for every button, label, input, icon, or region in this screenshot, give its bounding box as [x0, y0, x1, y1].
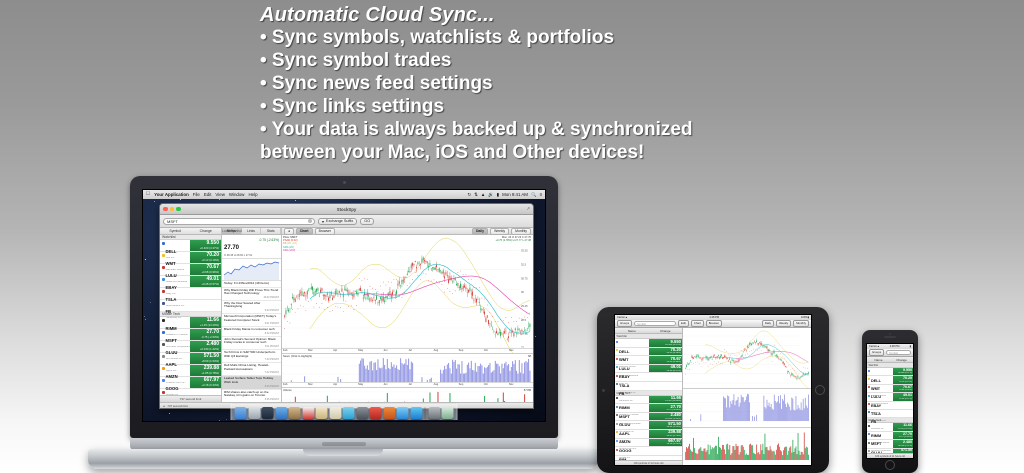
macbook-camera-icon	[343, 181, 346, 184]
bluetooth-icon[interactable]: ⇅	[474, 192, 478, 198]
battery-icon[interactable]: ▮	[497, 192, 499, 198]
headline-bullet-4: • Sync links settings	[260, 95, 1020, 118]
watchlist-row-quote: 9.550+0.400 (4.37%)	[649, 339, 682, 347]
news-item[interactable]: RIM shares also catch-up on the Nasdaq, …	[222, 390, 281, 403]
watchlist-row-text: AAPLApple Inc.	[166, 354, 192, 364]
news-histogram-chart[interactable]: News: (Click to Highlight) 68 FebMarAprM…	[282, 353, 533, 387]
news-headline: Tech Firms in S&P 500 Underperform With …	[224, 351, 279, 358]
symbol-color-icon	[162, 343, 165, 346]
watchlist-change: +0.28 (0.57%)	[899, 398, 912, 400]
watchlist-row-text: AMZNAmazon.com Inc.	[619, 430, 649, 437]
symbol-color-icon	[616, 397, 618, 399]
watchlist-row[interactable]: RIMMResearch In Motion11.66+1.45 (14.20%…	[160, 317, 221, 329]
photo-booth-icon[interactable]	[356, 407, 368, 419]
notification-center-icon[interactable]: ≡	[539, 192, 542, 197]
symbol-color-icon	[162, 266, 165, 269]
watchlist-row-text: MSFTMicrosoft Corporation	[871, 432, 893, 438]
headline-block: Automatic Cloud Sync... • Sync symbols, …	[260, 4, 1020, 164]
watchlist-change: +0.400 (4.37%)	[200, 246, 219, 250]
watchlist-row-info: GOOGGoogle Inc.	[615, 439, 649, 447]
menubar-clock[interactable]: Mon 9:41 AM	[502, 192, 528, 197]
iphone-watchlist-panel: Name Change WatchlistDELLDell Inc.9.550+…	[867, 357, 913, 458]
calendar-icon[interactable]	[289, 407, 301, 419]
news-timestamp: 9:01 PM EST	[224, 322, 279, 325]
menu-help[interactable]: Help	[248, 192, 257, 197]
symbol-color-icon	[868, 433, 870, 435]
tab-stats[interactable]: Stats	[261, 228, 281, 234]
watchlist-row-text: EBAYeBay Inc.	[871, 394, 893, 400]
watchlist-row-quote: 239.88+1.85 (0.78%)	[190, 365, 221, 376]
watchlist-row[interactable]: LULUlululemon athletica70.67+0.68 (0.96%…	[867, 385, 913, 393]
intraday-sparkline	[222, 259, 281, 281]
news-headline: Why the Dow Soared After Thanksgiving	[224, 302, 279, 309]
volume-chart-max: 57.8M	[524, 389, 531, 392]
star-dot	[154, 201, 155, 202]
symbol-color-icon	[162, 331, 165, 334]
watchlist-row[interactable]: GOOGGoogle Inc.667.97+2.18 (0.33%)	[615, 439, 682, 448]
watchlist-change: +1.45 (14.20%)	[898, 428, 912, 430]
symbol-search-value: MSFT	[167, 219, 178, 224]
watchlist-change: +8.69 (1.54%)	[667, 426, 682, 428]
watchlist-row-quote: 2.480+0.030 (1.22%)	[190, 341, 221, 352]
news-timestamp: 8:11 PM EST	[224, 345, 279, 348]
stocks-icon[interactable]	[410, 407, 422, 419]
svg-text:27.75: 27.75	[521, 332, 528, 336]
watchlist-row-text: WMTWal-Mart Stores	[166, 253, 192, 263]
watchlist-row[interactable]: WMTWal-Mart Stores70.20+0.13 (0.19%)	[615, 348, 682, 357]
star-dot	[539, 271, 540, 272]
watchlist-row[interactable]: AMZNAmazon.com Inc.239.88+1.85 (0.78%)	[160, 365, 221, 377]
tab-browser[interactable]: Browser	[315, 228, 335, 235]
watchlist-row-info: RIMMResearch In Motion	[615, 396, 649, 404]
news-item[interactable]: Why Black Friday Will Prove This Trend H…	[222, 288, 281, 301]
iphone-watchlist-rows: WatchlistDELLDell Inc.9.550+0.400 (4.37%…	[867, 363, 913, 453]
watchlist-row-info: AMZNAmazon.com Inc.	[615, 430, 649, 438]
ipad-wifi-icon: ▲	[625, 316, 628, 319]
watchlist-row-info: AAPLApple Inc.	[615, 421, 649, 429]
watchlist-row[interactable]: RIMMResearch In Motion11.66+1.45 (14.20%…	[615, 396, 682, 405]
chart-back-icon[interactable]: ◂	[284, 228, 294, 235]
news-list[interactable]: Today: Fri 23Nov2012 (48 items)Why Black…	[222, 281, 281, 402]
iphone-col-name[interactable]: Name	[867, 358, 890, 362]
watchlist-row-info: TSLATesla Motors Inc	[867, 402, 893, 409]
chart-toolbar: ◂ Chart Browser Daily Weekly Monthly	[282, 228, 533, 235]
tab-links[interactable]: Links	[242, 228, 262, 234]
window-body: Symbol Change WatchlistDELLDell Inc.9.55…	[160, 228, 533, 402]
ipad-chart-button[interactable]: Chart	[691, 320, 704, 327]
apple-logo-icon[interactable]: 	[146, 192, 150, 197]
exchange-suffix-label: Exchange Suffix	[326, 219, 353, 223]
news-item[interactable]: Black Friday Mania in consumer tech8:32 …	[222, 327, 281, 337]
iphone-battery-icon: ▮	[910, 345, 911, 348]
watchlist-row-info: RIMResearch In Motion Limited	[615, 447, 649, 455]
watchlist-row-quote: 32.13-0.38 (-1.17%)	[190, 288, 221, 299]
menu-view[interactable]: View	[215, 192, 224, 197]
volume-icon[interactable]: 🔊	[488, 192, 493, 198]
chart-quote-line2: +0.75 (2.78%) H 27.77 L 27.38	[496, 239, 531, 242]
watchlist-row[interactable]: TSLATesla Motors Inc32.13-0.38 (-1.17%)	[867, 402, 913, 410]
watchlist-row-quote: 571.50+8.69 (1.54%)	[649, 421, 682, 429]
symbol-color-icon	[616, 341, 618, 343]
watchlist-row-quote: 2.480+0.030 (1.22%)	[893, 440, 913, 447]
watchlist-row-info: AAPLApple Inc.	[160, 353, 190, 364]
go-button[interactable]: GO	[360, 218, 374, 225]
exchange-suffix-dropdown[interactable]: ▾ Exchange Suffix	[318, 218, 357, 225]
watchlist-change: +2.18 (0.33%)	[667, 443, 682, 445]
tab-chart[interactable]: Chart	[296, 228, 313, 235]
ipad-volume-chart[interactable]	[683, 428, 811, 466]
watchlist-row-text: LULUlululemon athletica	[166, 265, 192, 275]
watchlist-row-quote: 11.65-0.09 (-0.67%)	[649, 447, 682, 455]
watchlist-change: +0.030 (1.22%)	[200, 347, 219, 351]
news-timestamp: 6:20 PM EST	[224, 385, 279, 388]
watchlist-change: +0.400 (4.37%)	[665, 344, 681, 346]
watchlist-row-info: WMTWal-Mart Stores	[160, 252, 190, 263]
ipad-news-chart[interactable]	[683, 389, 811, 428]
clear-search-icon[interactable]	[308, 219, 312, 223]
watchlist-row-text: DELLDell Inc.	[619, 340, 649, 347]
symbol-color-icon	[162, 254, 165, 257]
watchlist-row-quote: 32.13-0.38 (-1.17%)	[893, 402, 913, 409]
ipad-period-weekly[interactable]: Weekly	[776, 320, 791, 327]
symbol-color-icon	[162, 379, 165, 382]
watchlist-row-text: AMZNAmazon.com Inc.	[166, 366, 192, 376]
macbook-latch-notch	[303, 449, 383, 456]
symbol-color-icon	[616, 431, 618, 433]
watchlist-row-info: TSLATesla Motors Inc	[615, 373, 649, 381]
watchlist-row-info: MSFTMicrosoft Corporation	[160, 329, 190, 340]
ipad-home-button[interactable]	[815, 385, 825, 395]
watchlist-change: -0.75 (-2.63%)	[899, 436, 912, 438]
iphone-groups-button[interactable]: Groups	[869, 349, 884, 356]
wifi-icon[interactable]: ▲	[481, 192, 485, 197]
star-dot	[145, 319, 146, 320]
watchlist-row[interactable]: AAPLApple Inc.571.50+8.69 (1.54%)	[160, 353, 221, 365]
watchlist-row-quote: 70.20+0.13 (0.19%)	[190, 252, 221, 263]
watchlist-row[interactable]: WMTWal-Mart Stores70.20+0.13 (0.19%)	[160, 252, 221, 264]
news-timestamp: 8:32 PM EST	[224, 332, 279, 335]
period-daily[interactable]: Daily	[472, 228, 488, 235]
watchlist-row[interactable]: FBFacebook Inc.24.00-0.32 (-1.32%)	[160, 300, 221, 312]
watchlist-row[interactable]: RIMResearch In Motion Limited11.65-0.09 …	[615, 447, 682, 456]
quote-ohl: O 28.45 H 28.60 L 27.61	[224, 254, 279, 257]
ipad-search-input[interactable]: Symbol	[634, 321, 676, 326]
watchlist-row-text: EBAYeBay Inc.	[619, 365, 649, 372]
statusbar-text: 737 second limit	[167, 404, 187, 408]
watchlist-row[interactable]: GOOGGoogle Inc.667.97+2.18 (0.33%)	[160, 377, 221, 389]
watchlist-row-text: RIMMResearch In Motion	[619, 396, 649, 403]
watchlist-row[interactable]: GLUUGlu Mobile Inc.2.480+0.030 (1.22%)	[867, 440, 913, 448]
ipad-period-monthly[interactable]: Monthly	[793, 320, 809, 327]
watchlist-change: -0.75 (-2.63%)	[201, 335, 219, 339]
news-timestamp: 7:40 PM EST	[224, 358, 279, 361]
headline-title: Automatic Cloud Sync...	[260, 4, 1020, 26]
symbol-color-icon	[868, 378, 870, 380]
statusbar-back-icon[interactable]: ◂	[163, 404, 164, 408]
symbol-color-icon	[868, 403, 870, 405]
watchlist-row[interactable]: LULUlululemon athletica70.67+0.68 (0.96%…	[160, 264, 221, 276]
trash-icon[interactable]	[442, 407, 454, 419]
star-dot	[219, 199, 220, 200]
watchlist-row-text: FBFacebook Inc.	[871, 410, 893, 416]
quote-price: 27.70	[224, 245, 239, 251]
svg-text:29.25: 29.25	[521, 304, 528, 308]
news-headline: Dell Mulls China Listing, Hewlett-Packar…	[224, 364, 279, 371]
news-item[interactable]: Microsoft Corporation (MSFT) Today's Fea…	[222, 314, 281, 327]
watchlist-row-info: EBAYeBay Inc.	[160, 276, 190, 287]
reminders-icon[interactable]	[316, 407, 328, 419]
watchlist-row-quote: 9.550+0.400 (4.37%)	[893, 368, 913, 375]
ipad-price-chart[interactable]	[683, 328, 811, 389]
news-item[interactable]: Leaked Surface Tablet Tops Holiday Wish …	[222, 376, 281, 389]
symbol-color-icon	[616, 414, 618, 416]
symbol-color-icon	[162, 290, 165, 293]
watchlist-change: +0.400 (4.37%)	[898, 372, 912, 374]
notes-icon[interactable]	[302, 407, 314, 419]
ipad-toolbar: Groups Symbol Edit Chart Browser Daily W…	[615, 320, 811, 328]
period-monthly[interactable]: Monthly	[511, 228, 531, 235]
mac-dock[interactable]	[231, 403, 458, 420]
window-titlebar[interactable]: StockSpy ↗	[160, 204, 533, 215]
watchlist-row-info: RIMMResearch In Motion	[867, 423, 893, 430]
watchlist-change: +1.85 (0.78%)	[201, 371, 219, 375]
star-dot	[169, 413, 170, 414]
spotlight-icon[interactable]: 🔍	[531, 192, 536, 198]
watchlist-row-info: WMTWal-Mart Stores	[867, 376, 893, 383]
news-chart-label: News: (Click to Highlight)	[283, 355, 312, 358]
watchlist-row-quote: 239.88+1.85 (0.78%)	[649, 430, 682, 438]
itunes-icon[interactable]	[370, 407, 382, 419]
symbol-color-icon	[162, 391, 165, 394]
watchlist-change: -0.38 (-1.17%)	[666, 378, 681, 380]
watchlist-col-symbol[interactable]: Symbol	[160, 229, 191, 233]
symbol-color-icon	[616, 449, 618, 451]
mail-icon[interactable]	[262, 407, 274, 419]
watchlist-row[interactable]: EBAYeBay Inc.49.01+0.28 (0.57%)	[160, 276, 221, 288]
watchlist-row-info: DELLDell Inc.	[867, 368, 893, 375]
watchlist-rows: WatchlistDELLDell Inc.9.550+0.400 (4.37%…	[160, 235, 221, 395]
symbol-color-icon	[616, 358, 618, 360]
ipad-battery-icon: ▮	[808, 316, 809, 319]
watchlist-row-info: GOOGGoogle Inc.	[160, 377, 190, 388]
news-timestamp: 9:44 PM EST	[224, 309, 279, 312]
iphone-body-content: Name Change WatchlistDELLDell Inc.9.550+…	[867, 357, 913, 458]
watchlist-col-change[interactable]: Change	[191, 229, 222, 233]
news-headline: Leaked Surface Tablet Tops Holiday Wish …	[224, 377, 279, 384]
price-chart-quote: Mon, 23 O 27.23 C 27.70 +0.75 (2.78%) H …	[496, 236, 531, 242]
symbol-color-icon	[868, 425, 870, 427]
watchlist-row-text: RIMResearch In Motion Limited	[619, 448, 649, 455]
watchlist-row-quote: 70.20+0.13 (0.19%)	[649, 348, 682, 356]
time-machine-icon[interactable]: ↻	[467, 192, 471, 198]
symbol-color-icon	[868, 450, 870, 452]
contacts-icon[interactable]	[275, 407, 287, 419]
headline-bullet-5: • Your data is always backed up & synchr…	[260, 118, 1020, 141]
ipad-col-change[interactable]: Change	[649, 329, 683, 333]
watchlist-row[interactable]: MSFTMicrosoft Corporation27.70-0.75 (-2.…	[867, 432, 913, 440]
ipad-col-name[interactable]: Name	[615, 329, 649, 333]
iphone-clock: 4:48 PM	[890, 345, 900, 348]
star-dot	[226, 419, 227, 420]
watchlist-row[interactable]: FBFacebook Inc.24.00-0.32 (-1.32%)	[615, 382, 682, 391]
watchlist-row[interactable]: GLUUGlu Mobile Inc.2.480+0.030 (1.22%)	[160, 341, 221, 353]
symbol-color-icon	[162, 242, 165, 245]
svg-text:33.25: 33.25	[521, 249, 528, 253]
watchlist-change: +1.45 (14.20%)	[665, 400, 681, 402]
volume-chart-label: Volume	[283, 389, 292, 392]
finder-icon[interactable]	[235, 407, 247, 419]
chevron-down-icon: ▾	[322, 219, 324, 224]
headline-bullet-3: • Sync news feed settings	[260, 72, 1020, 95]
watchlist-change: -0.32 (-1.32%)	[201, 306, 219, 310]
symbol-color-icon	[616, 366, 618, 368]
watchlist-change: +0.13 (0.19%)	[201, 258, 219, 262]
period-weekly[interactable]: Weekly	[490, 228, 509, 235]
news-timestamp: 7:02 PM EST	[224, 371, 279, 374]
watchlist-row[interactable]: DELLDell Inc.9.550+0.400 (4.37%)	[160, 240, 221, 252]
price-chart-legend: Price: MSFT PSAR (0.02) BB (20, 2.0) SMA…	[283, 236, 298, 252]
watchlist-row[interactable]: TSLATesla Motors Inc32.13-0.38 (-1.17%)	[615, 373, 682, 382]
watchlist-row[interactable]: TSLATesla Motors Inc32.13-0.38 (-1.17%)	[160, 288, 221, 300]
news-item[interactable]: Why the Dow Soared After Thanksgiving9:4…	[222, 301, 281, 314]
watchlist-row-quote: 70.20+0.13 (0.19%)	[893, 376, 913, 383]
watchlist-row-info: EBAYeBay Inc.	[867, 393, 893, 400]
news-headline: Today: Fri 23Nov2012 (48 items)	[224, 282, 279, 286]
watchlist-row-text: TSLATesla Motors Inc	[871, 402, 893, 408]
watchlist-change: -0.38 (-1.17%)	[899, 406, 912, 408]
symbol-color-icon	[868, 411, 870, 413]
watchlist-row[interactable]: DELLDell Inc.9.550+0.400 (4.37%)	[867, 368, 913, 376]
quote-change: -0.75 (-2.63%)	[259, 238, 279, 242]
iphone-carrier: Carrier	[869, 345, 877, 348]
menubar-app-name[interactable]: Your Application	[154, 192, 189, 197]
system-preferences-icon[interactable]	[397, 407, 409, 419]
watchlist-row-text: FBFacebook Inc.	[166, 301, 192, 311]
iphone-home-button[interactable]	[885, 460, 895, 470]
symbol-color-icon	[162, 302, 165, 305]
svg-text:32.5: 32.5	[521, 262, 527, 266]
watchlist-row-info: GLUUGlu Mobile Inc.	[615, 413, 649, 421]
watchlist-change: +1.85 (0.78%)	[667, 435, 682, 437]
watchlist-row-text: MSFTMicrosoft Corporation	[166, 330, 192, 340]
watchlist-row-text: GLUUGlu Mobile Inc.	[166, 342, 192, 352]
watchlist-row-quote: 49.01+0.28 (0.57%)	[190, 276, 221, 287]
star-dot	[150, 302, 151, 303]
downloads-icon[interactable]	[428, 407, 440, 419]
quote-summary: -0.75 (-2.63%) 27.70 O 28.45 H 28.60 L 2…	[222, 235, 281, 259]
menubar-status-area: ↻ ⇅ ▲ 🔊 ▮ Mon 9:41 AM 🔍 ≡	[467, 192, 542, 198]
menu-edit[interactable]: Edit	[204, 192, 212, 197]
watchlist-change: -0.38 (-1.17%)	[201, 294, 219, 298]
ipad-period-daily[interactable]: Daily	[762, 320, 774, 327]
iphone-speaker-icon	[884, 336, 896, 338]
iphone-camera-icon	[889, 333, 891, 335]
fullscreen-icon[interactable]: ↗	[526, 206, 530, 212]
watchlist-change: +0.28 (0.57%)	[201, 282, 219, 286]
ipad-edit-button[interactable]: Edit	[678, 320, 689, 327]
watchlist-row[interactable]: WMTWal-Mart Stores70.20+0.13 (0.19%)	[867, 376, 913, 384]
watchlist-row-info: EBAYeBay Inc.	[615, 365, 649, 373]
news-headline: John Dvorak's Second Opinion: Black Frid…	[224, 338, 279, 345]
watchlist-change: -0.75 (-2.63%)	[666, 409, 681, 411]
watchlist-row[interactable]: MSFTMicrosoft Corporation27.70-0.75 (-2.…	[160, 329, 221, 341]
watchlist-row[interactable]: FBFacebook Inc.24.00-0.32 (-1.32%)	[867, 410, 913, 418]
watchlist-row-quote: 27.70-0.75 (-2.63%)	[893, 432, 913, 439]
watchlist-row-info: LULUlululemon athletica	[160, 264, 190, 275]
watchlist-row[interactable]: RIMMResearch In Motion11.66+1.45 (14.20%…	[867, 423, 913, 431]
news-headline: Why Black Friday Will Prove This Trend H…	[224, 289, 279, 296]
symbol-color-icon	[616, 440, 618, 442]
watchlist-change: +0.68 (0.96%)	[899, 389, 912, 391]
iphone-footer: 100 symbols of 11 hours old	[867, 453, 913, 458]
symbol-search-input[interactable]: MSFT	[163, 218, 315, 225]
watchlist-row-text: WMTWal-Mart Stores	[619, 348, 649, 355]
watchlist-row-text: GOOGGoogle Inc.	[619, 439, 649, 446]
symbol-color-icon	[868, 370, 870, 372]
watchlist-row-text: RIMMResearch In Motion	[166, 318, 192, 328]
app-store-icon[interactable]	[383, 407, 395, 419]
watchlist-row-quote: 32.13-0.38 (-1.17%)	[649, 373, 682, 381]
chart-panel: ◂ Chart Browser Daily Weekly Monthly Pri…	[282, 228, 533, 402]
iphone-search-input[interactable]: Symbol	[886, 350, 911, 355]
news-timestamp: 10:02 PM EST	[224, 296, 279, 299]
legend-sma200: SMA (200)	[283, 249, 298, 252]
watchlist-row-info: AMZNAmazon.com Inc.	[160, 365, 190, 376]
menu-file[interactable]: File	[193, 192, 200, 197]
ipad-groups-button[interactable]: Groups	[617, 320, 632, 327]
watchlist-row-quote: 11.66+1.45 (14.20%)	[190, 317, 221, 328]
price-chart[interactable]: Price: MSFT PSAR (0.02) BB (20, 2.0) SMA…	[282, 235, 533, 353]
news-item[interactable]: Dell Mulls China Listing, Hewlett-Packar…	[222, 363, 281, 376]
watchlist-row-info: FBFacebook Inc.	[615, 382, 649, 390]
volume-chart[interactable]: Volume 57.8M FebMarAprMayJunJulAugSepOct…	[282, 387, 533, 402]
svg-text:30.75: 30.75	[521, 276, 528, 280]
watchlist-row[interactable]: EBAYeBay Inc.49.01+0.28 (0.57%)	[867, 393, 913, 401]
ipad-browser-button[interactable]: Browser	[706, 320, 722, 327]
svg-text:28.5: 28.5	[521, 318, 527, 322]
watchlist-row-text: LULUlululemon athletica	[619, 357, 649, 364]
watchlist-row-info: RIMMResearch In Motion	[160, 317, 190, 328]
ipad-chart-panel	[683, 328, 811, 465]
safari-icon[interactable]	[248, 407, 260, 419]
messages-icon[interactable]	[329, 407, 341, 419]
watchlist-change: +1.45 (14.20%)	[200, 323, 219, 327]
iphone-col-change[interactable]: Change	[890, 358, 913, 362]
ipad-watchlist-rows: WatchlistDELLDell Inc.9.550+0.400 (4.37%…	[615, 334, 682, 460]
watchlist-row-text: DELLDell Inc.	[166, 241, 192, 251]
iphone-body: Carrier ▲ 4:48 PM ▮ Groups Symbol Name C…	[862, 330, 918, 473]
mac-menubar:  Your Application File Edit View Window…	[143, 190, 545, 199]
macbook-screen:  Your Application File Edit View Window…	[142, 189, 546, 422]
watchlist-panel: Symbol Change WatchlistDELLDell Inc.9.55…	[160, 228, 222, 402]
watchlist-change: -0.32 (-1.32%)	[899, 414, 912, 416]
symbol-color-icon	[616, 375, 618, 377]
menu-window[interactable]: Window	[229, 192, 245, 197]
watchlist-change: +0.28 (0.57%)	[667, 370, 682, 372]
watchlist-row-info: DELLDell Inc.	[160, 240, 190, 251]
watchlist-row-quote: 27.70-0.75 (-2.63%)	[190, 329, 221, 340]
symbol-color-icon	[868, 442, 870, 444]
news-item[interactable]: Today: Fri 23Nov2012 (48 items)	[222, 281, 281, 288]
watchlist-row-info: WMTWal-Mart Stores	[615, 348, 649, 356]
facetime-icon[interactable]	[343, 407, 355, 419]
news-item[interactable]: John Dvorak's Second Opinion: Black Frid…	[222, 337, 281, 350]
news-item[interactable]: Tech Firms in S&P 500 Underperform With …	[222, 350, 281, 363]
watchlist-row-info: FBFacebook Inc.	[160, 300, 190, 311]
ipad-battery: 100%	[801, 316, 808, 319]
watchlist-change: +0.13 (0.19%)	[667, 352, 682, 354]
watchlist-row-quote: 11.66+1.45 (14.20%)	[649, 396, 682, 404]
